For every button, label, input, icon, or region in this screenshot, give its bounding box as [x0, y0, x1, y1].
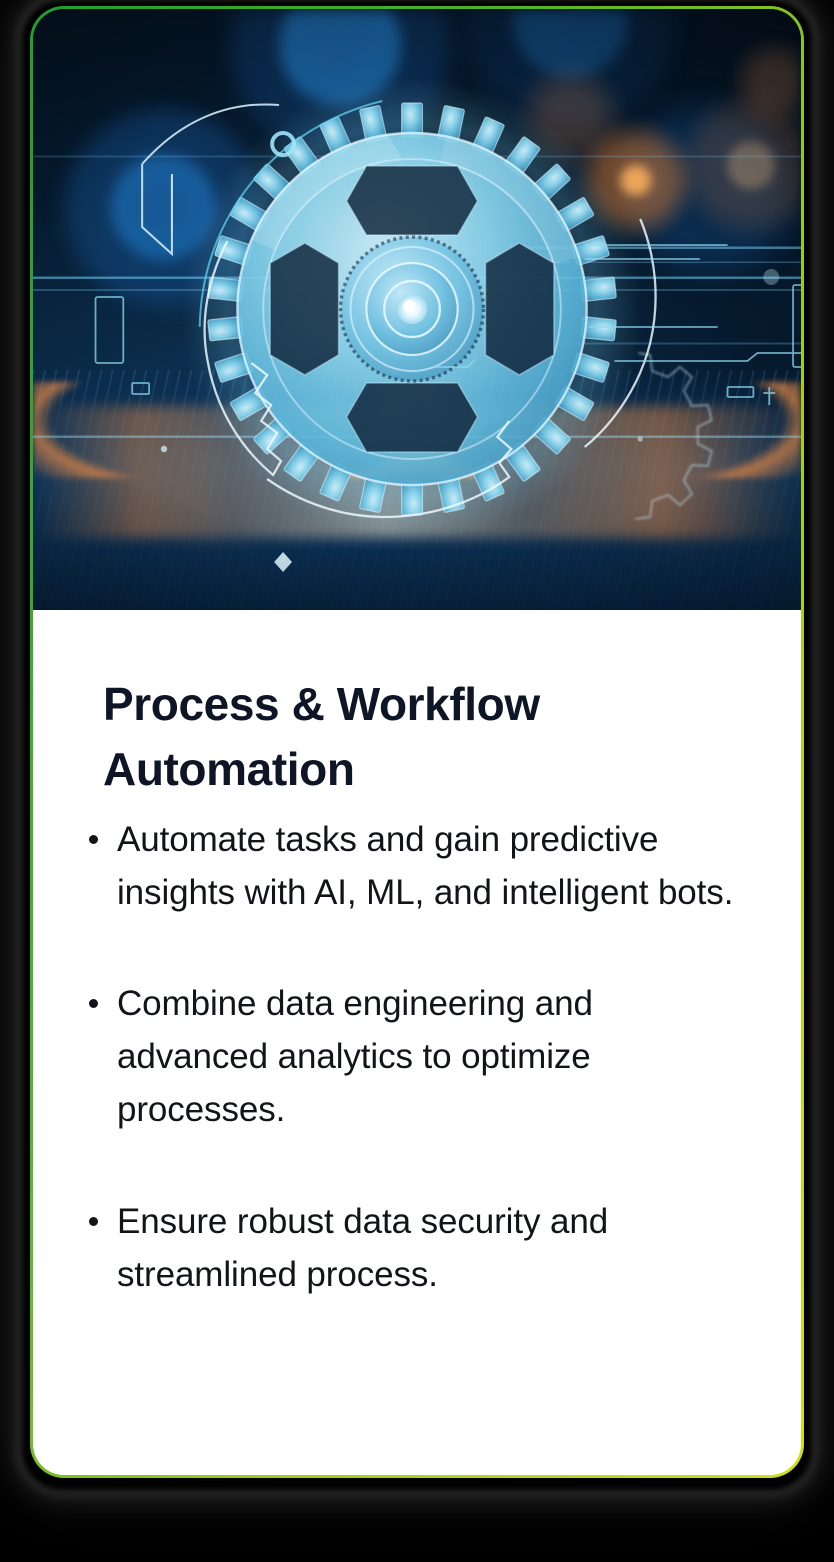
- feature-card: Process & Workflow Automation Automate t…: [30, 6, 804, 1478]
- list-item: Automate tasks and gain predictive insig…: [73, 813, 749, 919]
- card-content: Process & Workflow Automation Automate t…: [33, 610, 801, 1301]
- list-item: Combine data engineering and advanced an…: [73, 977, 749, 1137]
- feature-bullet-list: Automate tasks and gain predictive insig…: [73, 813, 749, 1301]
- page-title: Process & Workflow Automation: [103, 672, 749, 803]
- hero-image: [33, 9, 801, 610]
- list-item: Ensure robust data security and streamli…: [73, 1195, 749, 1301]
- card-inner-surface: Process & Workflow Automation Automate t…: [33, 9, 801, 1475]
- hero-vignette: [33, 9, 801, 610]
